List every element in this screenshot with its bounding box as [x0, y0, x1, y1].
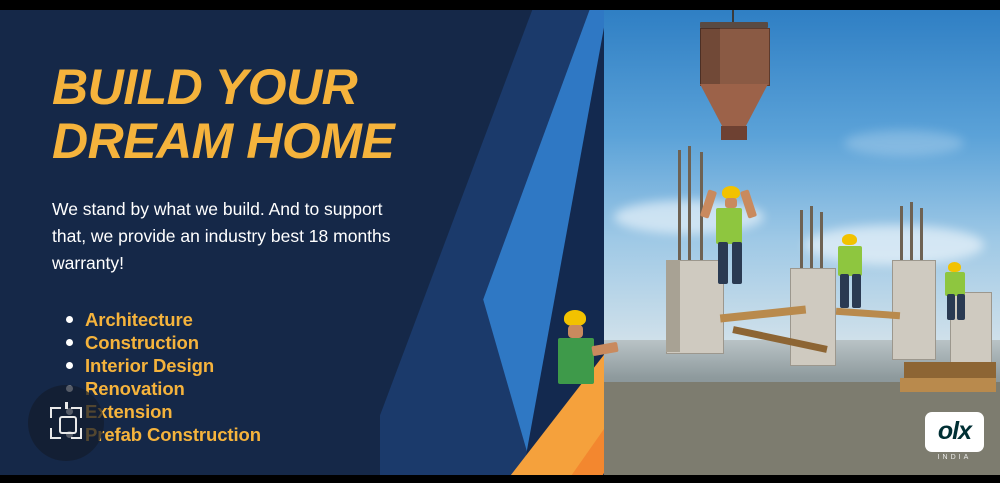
- worker-leg: [840, 274, 849, 308]
- letterbox-top: [0, 0, 1000, 10]
- bullet-dot-icon: [66, 362, 73, 369]
- headline: BUILD YOUR DREAM HOME: [52, 62, 472, 166]
- timber-stack: [900, 378, 996, 392]
- frame-icon-glyph: [50, 407, 82, 439]
- concrete-column: [892, 260, 936, 360]
- worker-leg: [947, 294, 955, 320]
- list-item: Interior Design: [66, 354, 261, 377]
- bullet-dot-icon: [66, 316, 73, 323]
- olx-logo: olx INDIA: [925, 412, 984, 461]
- headline-line-2: DREAM HOME: [52, 116, 472, 166]
- worker-leg: [852, 274, 861, 308]
- list-item: Renovation: [66, 377, 261, 400]
- sub-headline-text: We stand by what we build. And to suppor…: [52, 196, 402, 277]
- construction-photo: [604, 10, 1000, 475]
- letterbox-bottom: [0, 475, 1000, 483]
- concrete-column: [790, 268, 836, 366]
- worker-helmet: [842, 234, 857, 245]
- headline-line-1: BUILD YOUR: [52, 62, 472, 112]
- worker-head: [725, 198, 737, 208]
- worker-leg: [718, 242, 728, 284]
- service-label: Construction: [85, 332, 199, 354]
- cloud: [844, 130, 964, 156]
- worker-leg: [957, 294, 965, 320]
- service-label: Prefab Construction: [85, 424, 261, 446]
- worker-vest: [558, 338, 594, 384]
- bullet-dot-icon: [66, 339, 73, 346]
- photo-frame-icon: [28, 385, 104, 461]
- service-label: Interior Design: [85, 355, 214, 377]
- banner-image: BUILD YOUR DREAM HOME We stand by what w…: [0, 0, 1000, 483]
- list-item: Architecture: [66, 308, 261, 331]
- worker-helmet: [564, 310, 586, 326]
- service-label: Architecture: [85, 309, 193, 331]
- worker-leg: [732, 242, 742, 284]
- cloud: [804, 225, 984, 265]
- frame-stem-icon: [65, 402, 68, 409]
- worker-vest: [945, 272, 965, 296]
- olx-logo-subtext: INDIA: [925, 454, 984, 461]
- worker-vest: [716, 208, 742, 244]
- worker-head: [568, 325, 583, 338]
- service-label: Renovation: [85, 378, 185, 400]
- hopper-shadow: [700, 28, 720, 84]
- olx-logo-pill: olx: [925, 412, 984, 452]
- olx-logo-text: olx: [938, 417, 971, 445]
- worker-helmet: [948, 262, 961, 272]
- worker-vest: [838, 246, 862, 276]
- column-shadow: [666, 260, 680, 352]
- hopper-spout: [721, 126, 747, 140]
- list-item: Construction: [66, 331, 261, 354]
- frame-center-icon: [59, 416, 77, 434]
